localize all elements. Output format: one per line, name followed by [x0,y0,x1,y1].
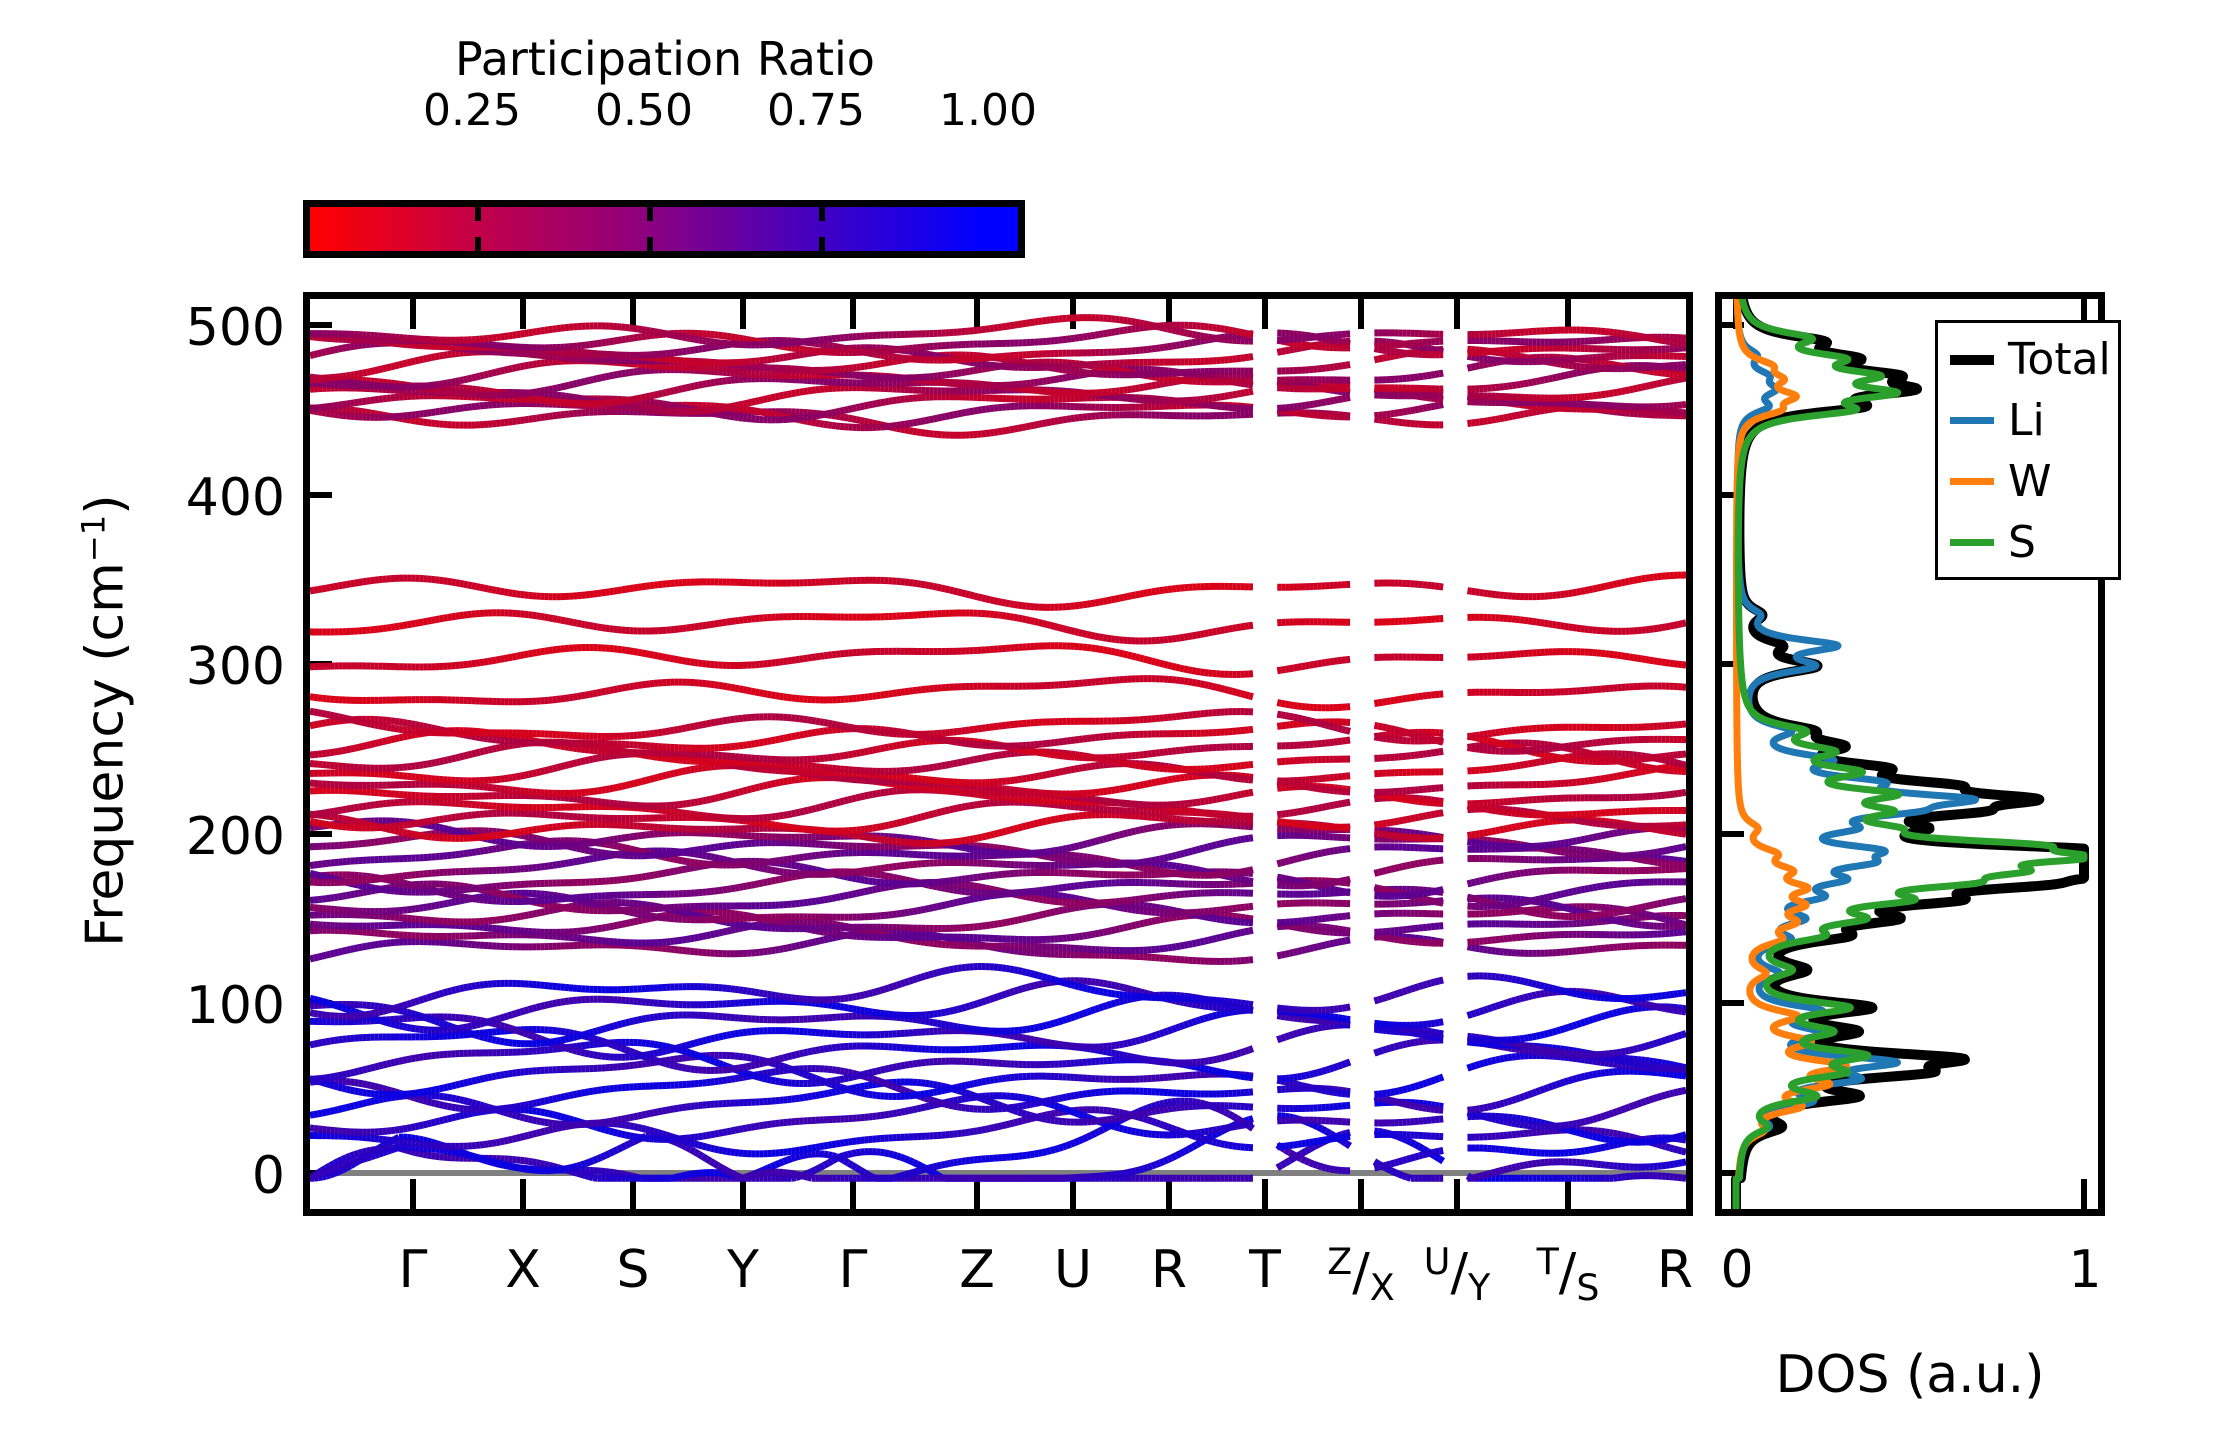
colorbar-tick [819,237,825,251]
colorbar-gradient [310,207,1018,251]
band-structure-canvas [310,299,1686,1209]
colorbar-tick [475,207,481,221]
band-curves-group [310,318,1686,1179]
legend-label-w: W [2008,460,2052,504]
x-tick-label-u-y: U/Y [1424,1240,1490,1309]
x-tick-label-r2: R [1657,1240,1693,1300]
colorbar-tick-label: 0.75 [767,85,865,136]
dos-legend[interactable]: Total Li W S [1935,320,2121,580]
phonon-band-structure-plot[interactable] [303,292,1693,1216]
colorbar-tick [647,207,653,221]
x-tick-label-z: Z [959,1240,995,1300]
x-tick-label-gamma1: Γ [399,1240,428,1300]
x-tick-label-s: S [616,1240,649,1300]
colorbar-tick [647,237,653,251]
x-tick-slash: / [1352,1242,1370,1302]
x-tick-labels: Γ X S Y Γ Z U R T Z/X U/Y T/S R [303,1240,1693,1335]
x-tick-label-gamma2: Γ [839,1240,868,1300]
dos-x-tick-label-0: 0 [1720,1240,1753,1300]
y-tick-label: 300 [186,637,285,697]
x-tick-label-x: X [505,1240,541,1300]
x-tick-numerator: U [1424,1240,1451,1283]
dos-x-tick-labels: 0 1 [1715,1240,2105,1310]
x-tick-label-u: U [1054,1240,1092,1300]
x-tick-label-z-x: Z/X [1327,1240,1394,1309]
legend-swatch-total [1950,355,1994,365]
legend-label-total: Total [2008,338,2111,382]
y-tick-label: 400 [186,468,285,528]
figure-canvas: Participation Ratio 0.25 0.50 0.75 1.00 … [0,0,2222,1455]
dos-x-axis-label: DOS (a.u.) [1715,1345,2105,1405]
x-tick-denominator: S [1576,1266,1599,1309]
colorbar-tick [819,207,825,221]
x-tick-label-t: T [1249,1240,1281,1300]
x-tick-slash: / [1450,1242,1468,1302]
colorbar-tick-label: 1.00 [939,85,1037,136]
legend-swatch-li [1950,417,1994,424]
colorbar-tick-label: 0.25 [423,85,521,136]
dos-x-tick-label-1: 1 [2068,1240,2101,1300]
x-tick-numerator: Z [1327,1240,1352,1283]
participation-ratio-colorbar[interactable] [303,200,1025,258]
y-tick-label: 100 [186,976,285,1036]
x-tick-denominator: Y [1468,1266,1490,1309]
colorbar-tick [475,237,481,251]
x-tick-denominator: X [1370,1266,1395,1309]
x-tick-label-t-s: T/S [1537,1240,1600,1309]
x-tick-numerator: T [1537,1240,1559,1283]
x-tick-slash: / [1559,1242,1577,1302]
legend-label-li: Li [2008,399,2045,443]
x-tick-label-r1: R [1151,1240,1187,1300]
legend-item-li[interactable]: Li [1938,390,2118,451]
x-tick-label-y: Y [727,1240,759,1300]
y-tick-label: 200 [186,807,285,867]
y-tick-label: 500 [186,298,285,358]
legend-item-total[interactable]: Total [1938,329,2118,390]
legend-label-s: S [2008,521,2036,565]
legend-swatch-w [1950,478,1994,485]
colorbar-title: Participation Ratio [300,32,1030,86]
colorbar-tick-labels: 0.25 0.50 0.75 1.00 [300,85,1030,135]
y-tick-label: 0 [252,1146,285,1206]
legend-swatch-s [1950,539,1994,546]
y-tick-labels: 0 100 200 300 400 500 [0,292,285,1216]
legend-item-s[interactable]: S [1938,512,2118,573]
colorbar-tick-label: 0.50 [595,85,693,136]
legend-item-w[interactable]: W [1938,451,2118,512]
